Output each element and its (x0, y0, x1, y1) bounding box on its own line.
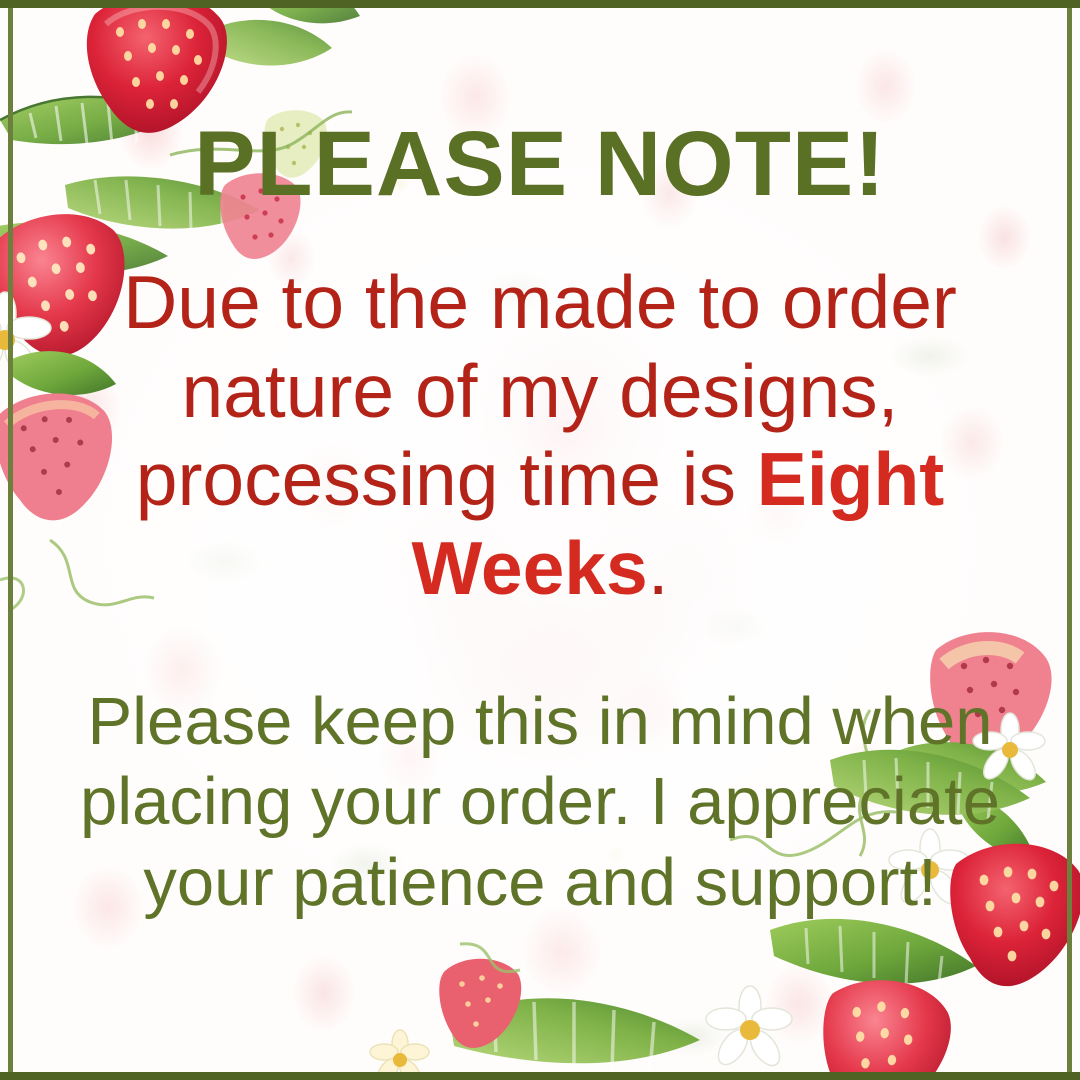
frame-border-top (0, 0, 1080, 8)
notice-text-trail: . (648, 526, 669, 610)
patience-message: Please keep this in mind when placing yo… (70, 682, 1010, 923)
announcement-poster: PLEASE NOTE! Due to the made to order na… (0, 0, 1080, 1080)
poster-text-content: PLEASE NOTE! Due to the made to order na… (0, 0, 1080, 1080)
processing-time-notice: Due to the made to order nature of my de… (100, 258, 980, 612)
page-title: PLEASE NOTE! (194, 118, 886, 210)
frame-border-bottom (0, 1072, 1080, 1080)
